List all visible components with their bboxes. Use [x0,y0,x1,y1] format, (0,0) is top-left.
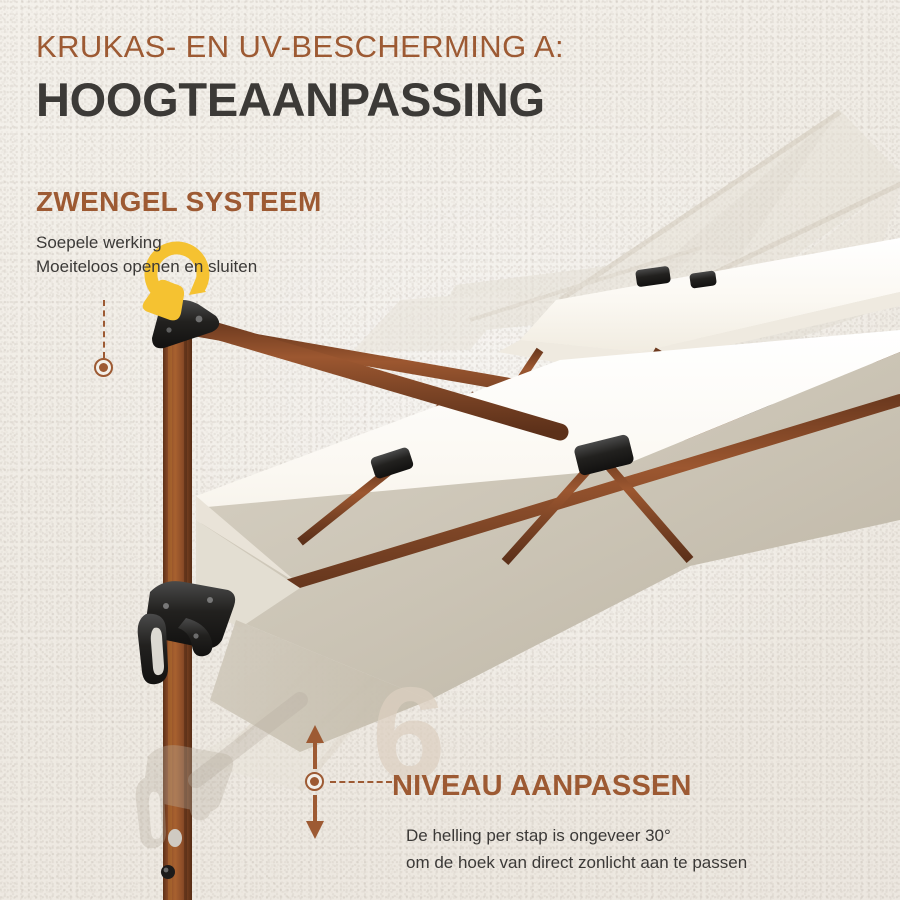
section-title-crank-system: ZWENGEL SYSTEEM [36,186,322,218]
dot-marker-icon-level [305,772,324,791]
product-photo [0,0,900,900]
section-body-line: Moeiteloos openen en sluiten [36,255,257,279]
eyebrow-text: KRUKAS- EN UV-BESCHERMING A: [36,29,564,65]
infographic-page: KRUKAS- EN UV-BESCHERMING A: HOOGTEAANPA… [0,0,900,900]
section-body-crank-system: Soepele werking Moeiteloos openen en slu… [36,231,257,279]
section-body-line: om de hoek van direct zonlicht aan te pa… [406,849,747,876]
dashed-leader-line-crank [103,300,105,358]
section-body-line: De helling per stap is ongeveer 30° [406,822,747,849]
section-title-level-adjustment: NIVEAU AANPASSEN [392,770,692,803]
section-body-level-adjustment: De helling per stap is ongeveer 30° om d… [406,822,747,876]
section-body-line: Soepele werking [36,231,257,255]
page-title: HOOGTEAANPASSING [36,72,545,127]
dot-marker-icon-crank [94,358,113,377]
dashed-leader-line-level [330,781,392,783]
